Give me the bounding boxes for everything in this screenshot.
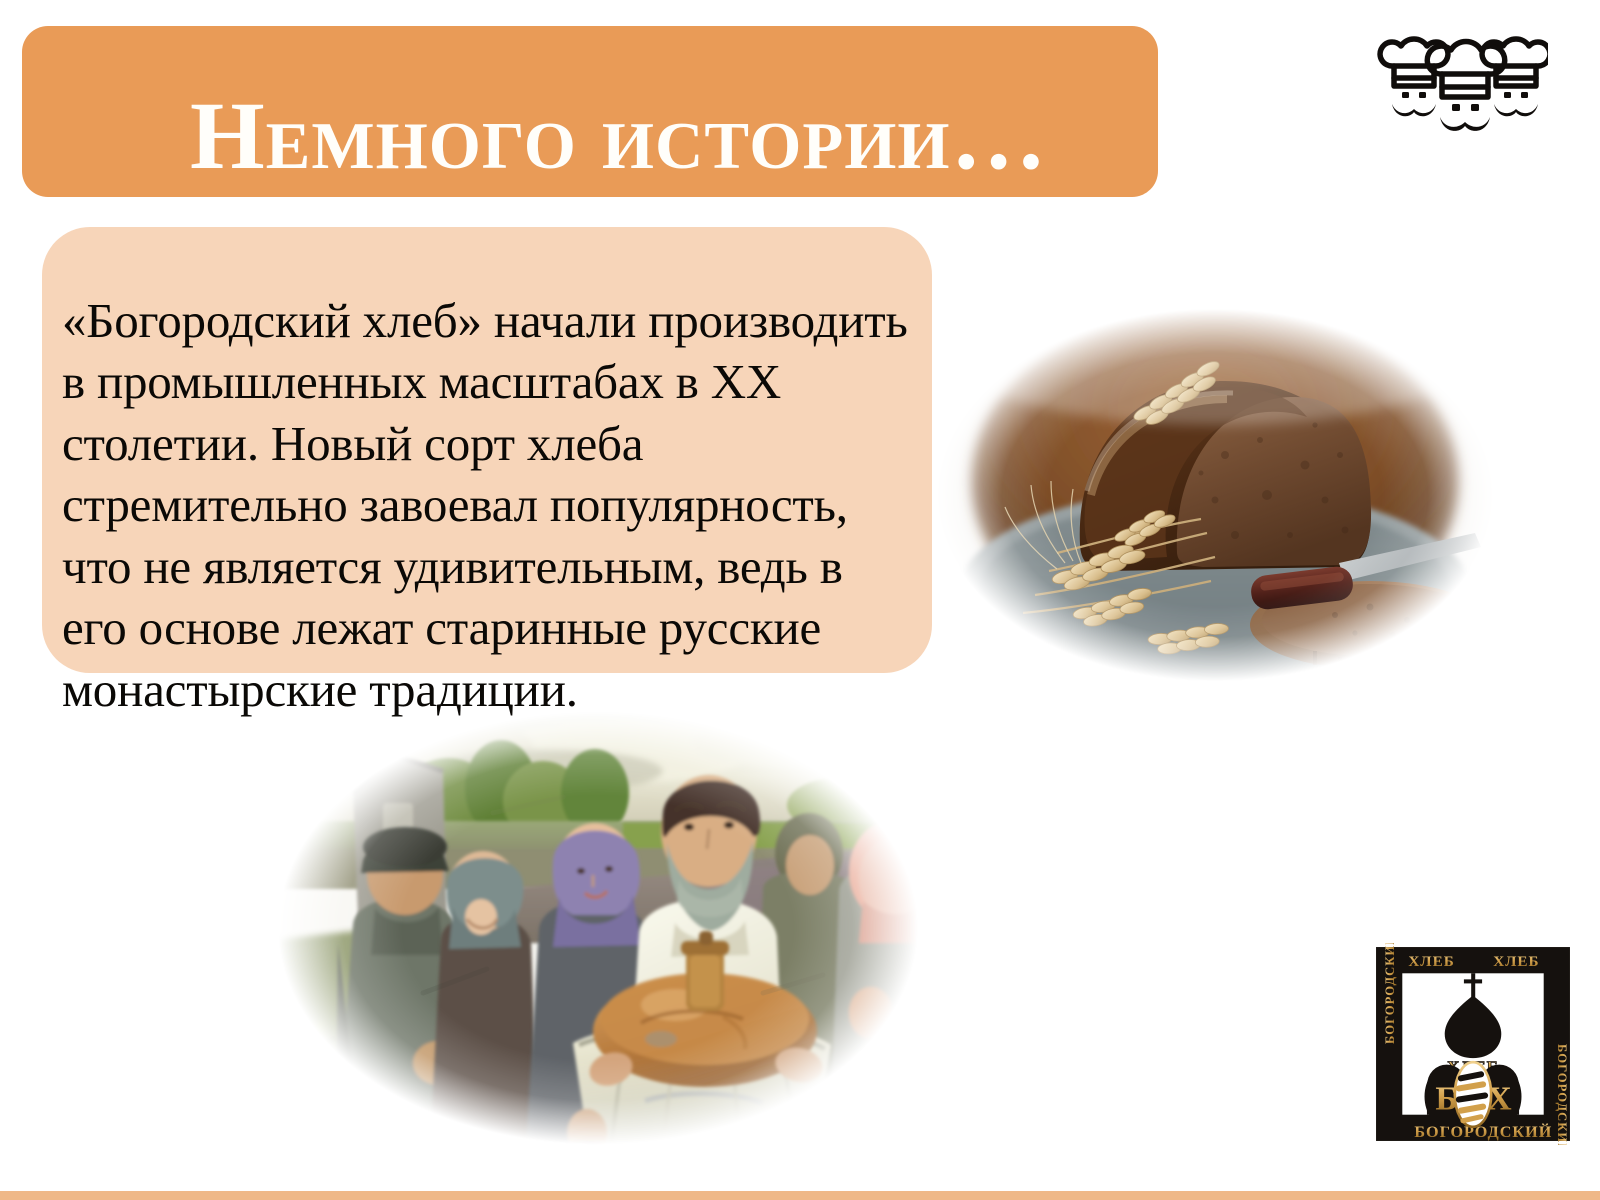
chef-hats-icon	[1372, 22, 1548, 132]
body-paragraph: «Богородский хлеб» начали производить в …	[62, 290, 914, 720]
logo-right-border-word: БОГОРОДСКИЙ ХЛЕБ	[1555, 1044, 1569, 1145]
presentation-slide: Немного истории…	[0, 0, 1600, 1200]
bread-and-salt-painting	[243, 693, 953, 1163]
logo-top-right-word: ХЛЕБ	[1493, 953, 1539, 970]
title-banner: Немного истории…	[22, 26, 1158, 197]
page-title: Немного истории…	[190, 88, 1090, 184]
bogorodsky-hleb-logo: ХЛЕБ ХЛЕБ БОГОРОДСКИЙ БОГОРОДСКИЙ ХЛЕБ Б…	[1372, 943, 1574, 1145]
logo-top-left-word: ХЛЕБ	[1408, 953, 1454, 970]
logo-bottom-word: БОГОРОДСКИЙ	[1414, 1122, 1552, 1141]
rye-bread-photo	[915, 295, 1515, 695]
bottom-accent-bar	[0, 1191, 1600, 1200]
logo-left-border-word: БОГОРОДСКИЙ ХЛЕБ	[1383, 943, 1397, 1044]
body-text-card: «Богородский хлеб» начали производить в …	[42, 227, 932, 673]
